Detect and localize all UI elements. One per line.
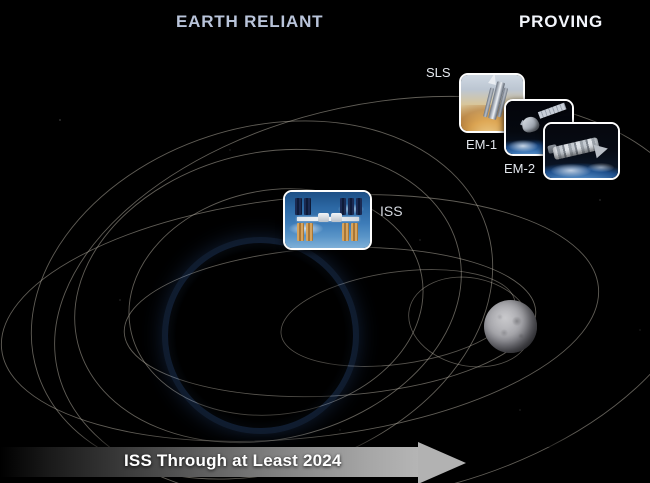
iss-solar-array-5: [356, 198, 362, 215]
iss-radiator-2: [306, 223, 313, 241]
iss-radiator-3: [342, 223, 349, 241]
banner-text: ISS Through at Least 2024: [124, 451, 342, 471]
earth: [168, 243, 353, 428]
caption-iss: ISS: [380, 203, 403, 219]
iss-radiator-1: [297, 223, 304, 241]
caption-em2: EM-2: [504, 161, 535, 176]
moon: [484, 300, 537, 353]
caption-sls: SLS: [426, 65, 451, 80]
iss-solar-array-1: [295, 198, 302, 215]
arrow-head-icon: [418, 442, 466, 483]
em2-earth-cloud: [551, 164, 591, 177]
em1-earth-cloud: [508, 140, 538, 152]
em2-earth-cloud-secondary: [588, 163, 614, 172]
iss-solar-array-4: [348, 198, 354, 215]
iss-module-2: [331, 213, 342, 222]
earth-globe: [168, 243, 353, 428]
caption-em1: EM-1: [466, 137, 497, 152]
iss-radiator-4: [351, 223, 358, 241]
exploration-roadmap-diagram: EARTH RELIANT PROVING SLS EM-1 EM-2: [0, 0, 650, 483]
em2-nose-cone: [594, 142, 610, 159]
iss-module-1: [318, 213, 329, 222]
phase-label-earth-reliant: EARTH RELIANT: [176, 12, 323, 32]
phase-label-proving: PROVING: [519, 12, 603, 32]
timeline-banner: ISS Through at Least 2024: [0, 437, 650, 483]
iss-solar-array-2: [304, 198, 311, 215]
thumbnail-em2[interactable]: [543, 122, 620, 180]
thumbnail-iss[interactable]: [283, 190, 372, 250]
